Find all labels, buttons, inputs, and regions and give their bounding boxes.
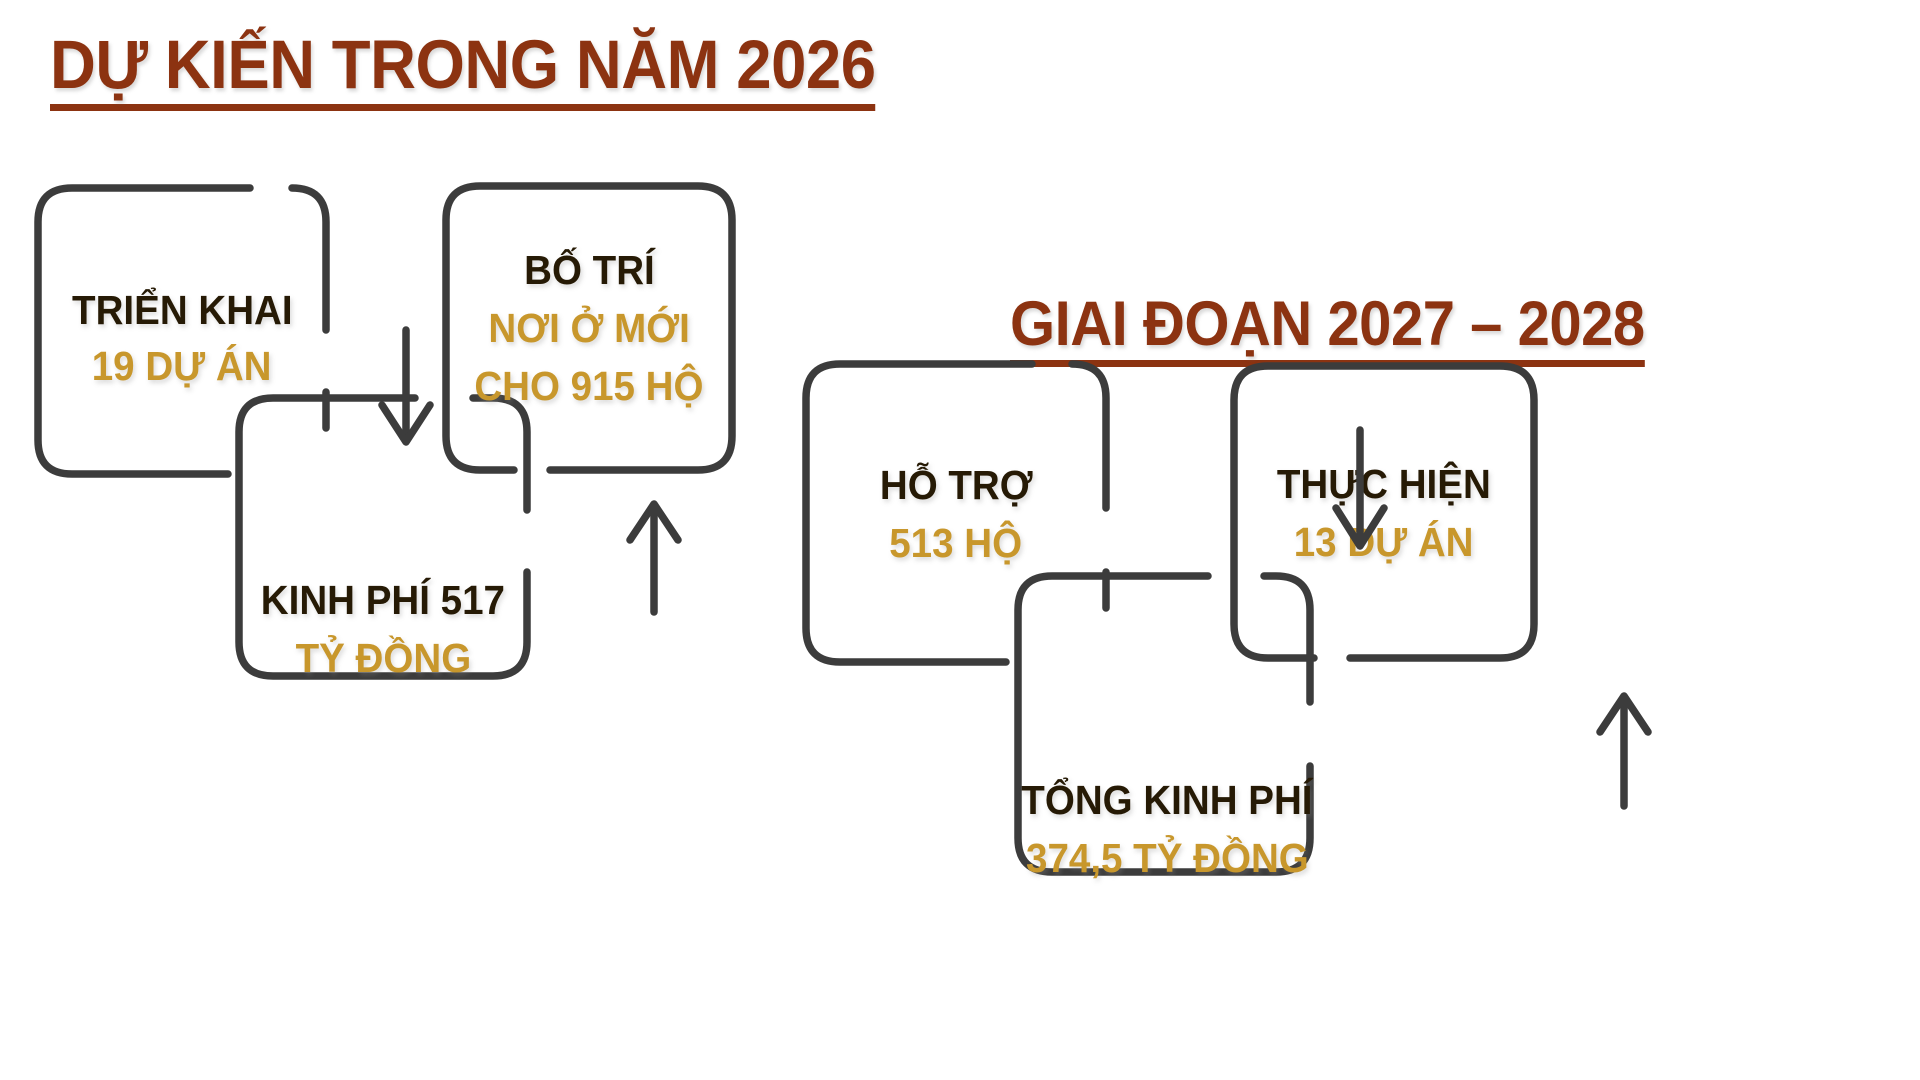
node-bo-tri-heading: BỐ TRÍ [524, 248, 655, 292]
section-title-2026: DỰ KIẾN TRONG NĂM 2026 [50, 28, 876, 111]
section-title-2026-text: DỰ KIẾN TRONG NĂM 2026 [50, 26, 876, 103]
node-bo-tri[interactable]: BỐ TRÍ NƠI Ở MỚI CHO 915 HỘ [440, 180, 738, 476]
arrow-tong-kinh-phi-to-thuc-hien [1600, 696, 1648, 806]
node-thuc-hien-value: 13 DỰ ÁN [1294, 520, 1474, 564]
section-title-2026-underline [50, 104, 876, 111]
section-title-2027-2028: GIAI ĐOẠN 2027 – 2028 [1010, 290, 1645, 367]
node-ho-tro-value: 513 HỘ [890, 521, 1023, 565]
node-kinh-phi-heading: KINH PHÍ 517 [261, 578, 505, 622]
arrow-kinh-phi-to-bo-tri [630, 504, 678, 612]
node-bo-tri-text: BỐ TRÍ NƠI Ở MỚI CHO 915 HỘ [440, 180, 738, 476]
infographic-canvas: DỰ KIẾN TRONG NĂM 2026 GIAI ĐOẠN 2027 – … [0, 0, 1920, 1080]
node-thuc-hien[interactable]: THỰC HIỆN 13 DỰ ÁN [1228, 360, 1540, 665]
node-bo-tri-value: CHO 915 HỘ [474, 364, 703, 408]
node-bo-tri-line2: NƠI Ở MỚI [488, 306, 689, 350]
node-thuc-hien-heading: THỰC HIỆN [1277, 462, 1491, 506]
node-thuc-hien-text: THỰC HIỆN 13 DỰ ÁN [1228, 360, 1540, 691]
node-kinh-phi-value: TỶ ĐỒNG [295, 636, 471, 680]
node-tong-kinh-phi-value: 374,5 TỶ ĐỒNG [1026, 836, 1309, 880]
section-title-2027-2028-text: GIAI ĐOẠN 2027 – 2028 [1010, 289, 1645, 359]
node-trien-khai-heading: TRIỂN KHAI [72, 288, 293, 332]
node-tong-kinh-phi-heading: TỔNG KINH PHÍ [1021, 778, 1312, 822]
node-ho-tro-heading: HỖ TRỢ [880, 463, 1033, 507]
node-trien-khai-value: 19 DỰ ÁN [92, 344, 272, 388]
